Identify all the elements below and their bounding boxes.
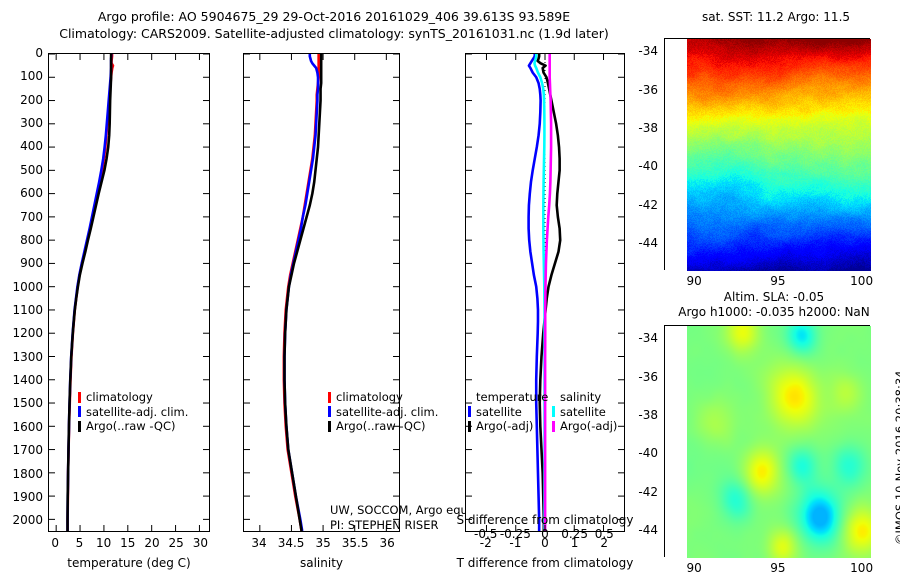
sst-lat-tick--40: -40 [624,159,658,173]
salinity-tick-34.5: 34.5 [278,536,305,550]
sst-map-image [665,39,871,271]
sla-lon-tick-90: 90 [687,561,702,575]
sla-title-line-1: Altim. SLA: -0.05 [664,290,884,305]
sla-map-panel [664,325,870,557]
legend-label: satellite-adj. clim. [336,405,438,420]
depth-tick-400: 400 [5,139,43,153]
title-line-2: Climatology: CARS2009. Satellite-adjuste… [0,25,668,42]
legend-label: Argo(..raw -QC) [336,419,426,434]
sst-lat-tick--36: -36 [624,83,658,97]
legend-label: satellite [560,405,606,420]
difference-plot-area [466,54,624,531]
sla-lon-tick-95: 95 [770,561,785,575]
legend-header: temperature [468,390,548,405]
sst-lon-tick-95: 95 [770,274,785,288]
series-temperature-argo-adj- [538,54,561,531]
salinity-tick-36: 36 [380,536,395,550]
sla-lon-tick-100: 100 [850,561,873,575]
legend-label: Argo(-adj) [476,419,533,434]
sla-map-image [665,326,871,558]
s-diff-tick-1: -0.25 [500,527,531,541]
temperature-tick-15: 15 [120,536,135,550]
s-diff-tick-3: 0.25 [561,527,588,541]
series-argo-raw-qc- [68,54,112,531]
legend-swatch-icon [468,421,471,432]
legend-item-satellite-adj-clim-: satellite-adj. clim. [328,405,438,420]
temperature-tick-30: 30 [193,536,208,550]
difference-profile-panel [465,53,625,532]
s-diff-tick-4: 0.5 [595,527,614,541]
sst-map-title: sat. SST: 11.2 Argo: 11.5 [676,10,876,25]
series-temperature-satellite [529,54,541,531]
sla-lat-tick--42: -42 [624,485,658,499]
legend-label: climatology [336,390,403,405]
legend-item-argo-adj-: Argo(-adj) [552,419,617,434]
depth-tick-1500: 1500 [5,396,43,410]
sla-lat-tick--44: -44 [624,523,658,537]
depth-tick-900: 900 [5,256,43,270]
legend-swatch-icon [328,392,331,403]
temperature-legend: climatologysatellite-adj. clim.Argo(..ra… [78,390,188,434]
legend-label: Argo(..raw -QC) [86,419,176,434]
depth-tick-100: 100 [5,69,43,83]
legend-item-climatology: climatology [78,390,188,405]
salinity-tick-35.5: 35.5 [342,536,369,550]
legend-label: satellite [476,405,522,420]
difference-legend-salinity: salinitysatelliteArgo(-adj) [552,390,617,434]
sla-lat-tick--36: -36 [624,370,658,384]
sla-map-title: Altim. SLA: -0.05 Argo h1000: -0.035 h20… [664,290,884,320]
salinity-profile-panel [243,53,400,532]
sst-lat-tick--34: -34 [624,44,658,58]
depth-tick-1900: 1900 [5,490,43,504]
sst-lon-tick-90: 90 [687,274,702,288]
depth-tick-800: 800 [5,233,43,247]
depth-tick-1000: 1000 [5,280,43,294]
salinity-plot-area [244,54,399,531]
depth-tick-1800: 1800 [5,467,43,481]
depth-tick-1600: 1600 [5,420,43,434]
legend-label: satellite-adj. clim. [86,405,188,420]
depth-tick-2000: 2000 [5,513,43,527]
s-difference-axis-label: S difference from climatology [455,513,635,527]
temperature-tick-0: 0 [51,536,59,550]
sla-title-line-2: Argo h1000: -0.035 h2000: NaN [664,305,884,320]
salinity-axis-label: salinity [243,556,400,570]
temperature-profile-panel [48,53,210,532]
sst-lon-tick-100: 100 [850,274,873,288]
sst-lat-tick--42: -42 [624,198,658,212]
sst-lat-tick--38: -38 [624,121,658,135]
s-diff-tick-2: 0 [541,527,549,541]
sst-map-panel [664,38,870,270]
sla-lat-tick--34: -34 [624,331,658,345]
depth-tick-600: 600 [5,186,43,200]
depth-tick-0: 0 [5,46,43,60]
depth-tick-300: 300 [5,116,43,130]
copyright-label: ©IMOS 10-Nov-2016 20:38:34 [893,371,900,545]
legend-swatch-icon [78,392,81,403]
depth-tick-1200: 1200 [5,326,43,340]
title-line-1: Argo profile: AO 5904675_29 29-Oct-2016 … [0,8,668,25]
legend-swatch-icon [552,421,555,432]
legend-header: salinity [552,390,617,405]
legend-item-satellite: satellite [468,405,548,420]
legend-swatch-icon [552,406,555,417]
legend-swatch-icon [468,406,471,417]
legend-item-satellite: satellite [552,405,617,420]
temperature-tick-10: 10 [96,536,111,550]
depth-tick-700: 700 [5,210,43,224]
legend-label: climatology [86,390,153,405]
temperature-axis-label: temperature (deg C) [48,556,210,570]
temperature-tick-25: 25 [169,536,184,550]
temperature-plot-area [49,54,209,531]
figure-title: Argo profile: AO 5904675_29 29-Oct-2016 … [0,8,668,42]
depth-tick-1300: 1300 [5,350,43,364]
series-satellite-adj-clim- [68,54,112,531]
depth-tick-1400: 1400 [5,373,43,387]
s-diff-tick-0: -0.5 [474,527,497,541]
temperature-tick-20: 20 [144,536,159,550]
salinity-legend: climatologysatellite-adj. clim.Argo(..ra… [328,390,438,434]
t-difference-axis-label: T difference from climatology [455,556,635,570]
temperature-tick-5: 5 [76,536,84,550]
depth-tick-1100: 1100 [5,303,43,317]
legend-item-argo-adj-: Argo(-adj) [468,419,548,434]
legend-label: Argo(-adj) [560,419,617,434]
salinity-tick-35: 35 [315,536,330,550]
depth-tick-500: 500 [5,163,43,177]
sst-lat-tick--44: -44 [624,236,658,250]
salinity-tick-34: 34 [251,536,266,550]
legend-item-argo-raw-qc-: Argo(..raw -QC) [78,419,188,434]
legend-item-climatology: climatology [328,390,438,405]
depth-tick-200: 200 [5,93,43,107]
sla-lat-tick--38: -38 [624,408,658,422]
legend-swatch-icon [328,421,331,432]
legend-swatch-icon [78,421,81,432]
legend-swatch-icon [328,406,331,417]
legend-swatch-icon [78,406,81,417]
legend-item-satellite-adj-clim-: satellite-adj. clim. [78,405,188,420]
depth-tick-1700: 1700 [5,443,43,457]
legend-item-argo-raw-qc-: Argo(..raw -QC) [328,419,438,434]
difference-legend-temperature: temperaturesatelliteArgo(-adj) [468,390,548,434]
sla-lat-tick--40: -40 [624,446,658,460]
